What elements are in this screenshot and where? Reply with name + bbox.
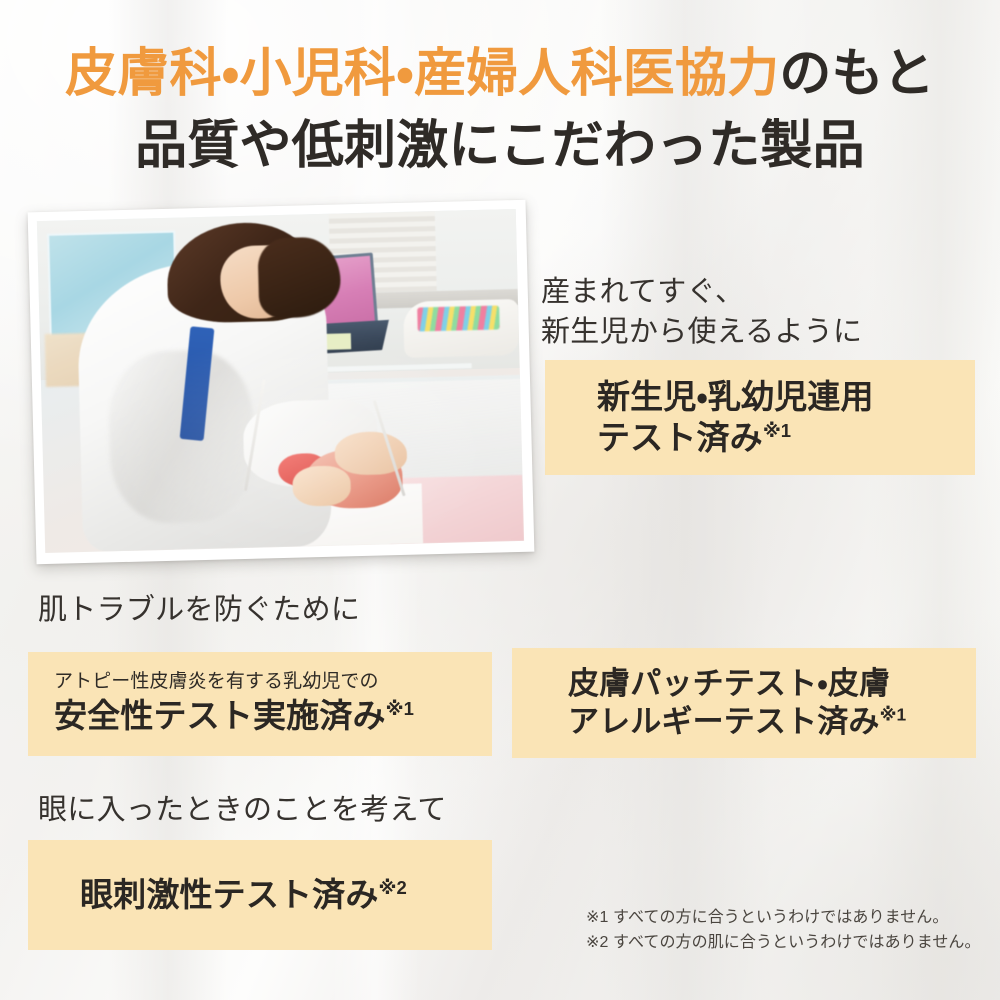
- footnote-ref: ※1: [880, 705, 907, 725]
- claim-main-line-1: 新生児・乳幼児連用: [597, 377, 975, 417]
- headline-line-1: 皮膚科・小児科・産婦人科医協力のもと: [0, 42, 1000, 108]
- lead-text-newborn: 産まれてすぐ、 新生児から使えるように: [541, 272, 862, 352]
- claim-main-text: 安全性テスト実施済み: [54, 697, 386, 734]
- claim-main-line-2: テスト済み※1: [597, 418, 975, 458]
- footnote-2: ※2 すべての方の肌に合うというわけではありません。: [586, 931, 981, 956]
- footnote-ref: ※1: [386, 698, 414, 719]
- claim-main-line-1: 眼刺激性テスト済み※2: [80, 875, 492, 915]
- claim-box-newborn-test: 新生児・乳幼児連用 テスト済み※1: [545, 360, 975, 475]
- claim-main-line-2: アレルギーテスト済み※1: [568, 703, 976, 741]
- headline-accent-text: 皮膚科・小児科・産婦人科医協力: [65, 45, 779, 103]
- claim-main-text: アレルギーテスト済み: [568, 704, 880, 739]
- photo-soft-light: [37, 209, 524, 553]
- footnotes: ※1 すべての方に合うというわけではありません。 ※2 すべての方の肌に合うとい…: [586, 906, 981, 956]
- claim-main-text: 眼刺激性テスト済み: [80, 876, 379, 913]
- claim-box-eye-irritation-test: 眼刺激性テスト済み※2: [28, 840, 492, 950]
- claim-sub-text: アトピー性皮膚炎を有する乳幼児での: [54, 671, 492, 694]
- footnote-ref: ※1: [763, 420, 791, 441]
- claim-main-line-1: 皮膚パッチテスト・皮膚: [568, 665, 976, 703]
- lead-text-skin-trouble: 肌トラブルを防ぐために: [38, 590, 360, 630]
- footnote-1: ※1 すべての方に合うというわけではありません。: [586, 906, 981, 931]
- lead-text-eye: 眼に入ったときのことを考えて: [38, 790, 447, 830]
- headline-plain-text: のもと: [779, 45, 935, 103]
- footnote-ref: ※2: [379, 877, 407, 898]
- page-title: 皮膚科・小児科・産婦人科医協力のもと 品質や低刺激にこだわった製品: [0, 42, 1000, 179]
- doctor-newborn-photo-frame: [28, 200, 535, 564]
- headline-line-2: 品質や低刺激にこだわった製品: [0, 114, 1000, 180]
- doctor-newborn-photo: [37, 209, 524, 553]
- claim-box-patch-allergy-test: 皮膚パッチテスト・皮膚 アレルギーテスト済み※1: [512, 648, 976, 758]
- claim-box-safety-test: アトピー性皮膚炎を有する乳幼児での 安全性テスト実施済み※1: [28, 652, 492, 756]
- claim-main-text: テスト済み: [597, 419, 763, 456]
- claim-main-line-1: 安全性テスト実施済み※1: [54, 696, 492, 736]
- promo-banner: 皮膚科・小児科・産婦人科医協力のもと 品質や低刺激にこだわった製品: [0, 0, 1000, 1000]
